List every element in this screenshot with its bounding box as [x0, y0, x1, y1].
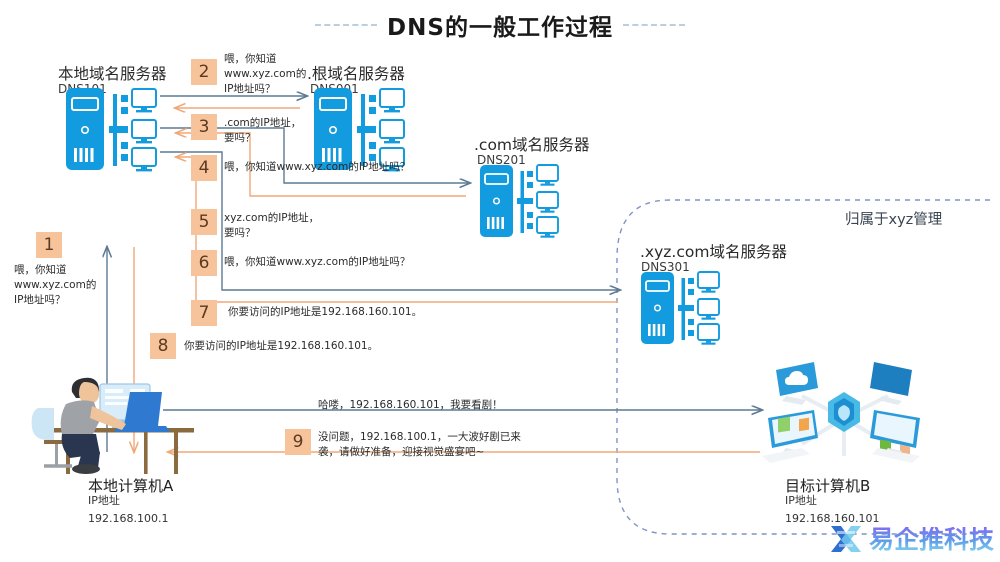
- local-computer-ip: 192.168.100.1: [88, 511, 168, 528]
- step-1-line-2: www.xyz.com的: [14, 278, 96, 293]
- step-2-line-2: www.xyz.com的: [224, 67, 306, 82]
- step-5-line-2: 要吗？: [224, 226, 319, 241]
- step-5-text: xyz.com的IP地址， 要吗？: [224, 211, 319, 241]
- xyz-dns-icon[interactable]: [638, 270, 730, 348]
- step-5-line-1: xyz.com的IP地址，: [224, 211, 319, 226]
- diagram-canvas: DNS的一般工作过程 归属于xyz管理: [0, 0, 1000, 562]
- step-2-badge: 2: [191, 59, 217, 85]
- hello-message-text: 哈喽，192.168.160.101，我要看剧！: [318, 398, 503, 413]
- com-dns-name: .com域名服务器: [474, 133, 590, 155]
- step-9-line-1: 没问题，192.168.100.1，一大波好剧已来: [318, 430, 521, 445]
- step-3-line-2: 要吗？: [224, 131, 301, 146]
- step-1-line-3: IP地址吗？: [14, 293, 96, 308]
- root-dns-name: .根域名服务器: [307, 62, 405, 84]
- step-3-badge: 3: [191, 114, 217, 140]
- step-3-text: .com的IP地址， 要吗？: [224, 116, 301, 146]
- step-2-line-1: 喂，你知道: [224, 52, 306, 67]
- step-9-badge: 9: [285, 429, 311, 455]
- step-8-text: 你要访问的IP地址是192.168.160.101。: [184, 339, 378, 354]
- step-4-text: 喂，你知道www.xyz.com的IP地址吗？: [224, 160, 410, 175]
- step-1-badge: 1: [36, 232, 62, 258]
- step-6-text: 喂，你知道www.xyz.com的IP地址吗？: [224, 255, 410, 270]
- local-dns-icon[interactable]: [62, 86, 170, 176]
- step-7-text: 你要访问的IP地址是192.168.160.101。: [228, 305, 422, 320]
- xyz-dns-name: .xyz.com域名服务器: [640, 240, 787, 262]
- step-1-line-1: 喂，你知道: [14, 263, 96, 278]
- step-8-badge: 8: [150, 333, 176, 359]
- step-4-badge: 4: [191, 155, 217, 181]
- local-dns-name: 本地域名服务器: [58, 62, 167, 84]
- watermark: 易企推科技: [827, 522, 994, 556]
- step-3-line-1: .com的IP地址，: [224, 116, 301, 131]
- target-computer-ip-label: IP地址: [785, 493, 817, 510]
- step-2-text: 喂，你知道 www.xyz.com的 IP地址吗？: [224, 52, 306, 98]
- step-9-line-2: 袭，请做好准备，迎接视觉盛宴吧~: [318, 445, 521, 460]
- watermark-text: 易企推科技: [869, 527, 994, 552]
- step-9-text: 没问题，192.168.100.1，一大波好剧已来 袭，请做好准备，迎接视觉盛宴…: [318, 430, 521, 460]
- watermark-logo-icon: [827, 522, 865, 556]
- local-computer-ip-label: IP地址: [88, 493, 120, 510]
- com-dns-icon[interactable]: [477, 163, 569, 241]
- step-7-badge: 7: [191, 300, 217, 326]
- local-computer-illustration[interactable]: [26, 362, 201, 477]
- step-2-line-3: IP地址吗？: [224, 82, 306, 97]
- step-6-badge: 6: [191, 250, 217, 276]
- step-1-text: 喂，你知道 www.xyz.com的 IP地址吗？: [14, 263, 96, 309]
- step-5-badge: 5: [191, 209, 217, 235]
- target-computer-illustration[interactable]: [756, 356, 934, 476]
